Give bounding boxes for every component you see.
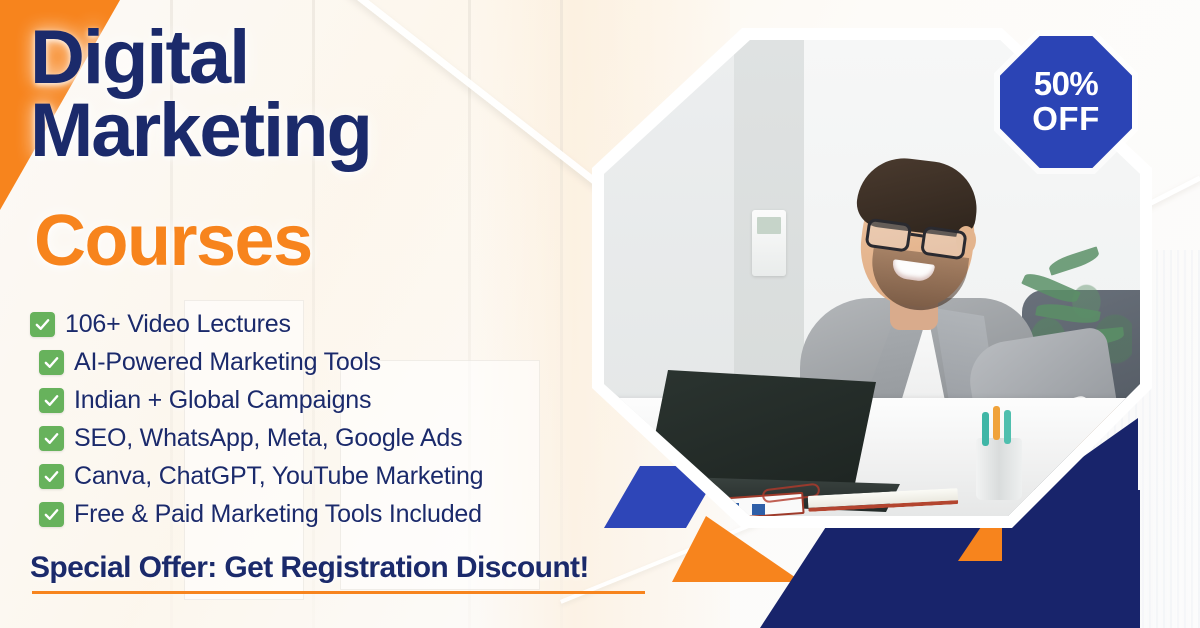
check-icon	[39, 350, 64, 375]
check-icon	[39, 502, 64, 527]
promo-banner: 50% OFF Digital Marketing Courses 106+ V…	[0, 0, 1200, 628]
photo-pen-holder	[976, 438, 1022, 500]
check-icon	[39, 388, 64, 413]
list-item: SEO, WhatsApp, Meta, Google Ads	[30, 419, 630, 457]
list-item: AI-Powered Marketing Tools	[30, 343, 630, 381]
list-item: Indian + Global Campaigns	[30, 381, 630, 419]
photo-pen	[1004, 410, 1011, 444]
headline-line-2: Marketing	[30, 95, 630, 168]
photo-sticky-note	[752, 504, 765, 515]
cta-text[interactable]: Special Offer: Get Registration Discount…	[30, 551, 589, 585]
feature-label: Indian + Global Campaigns	[74, 386, 371, 415]
discount-off-label: OFF	[1032, 100, 1099, 138]
check-icon	[39, 426, 64, 451]
discount-percent: 50%	[1034, 67, 1099, 100]
list-item: Canva, ChatGPT, YouTube Marketing	[30, 457, 630, 495]
feature-list: 106+ Video Lectures AI-Powered Marketing…	[30, 305, 630, 533]
feature-label: AI-Powered Marketing Tools	[74, 348, 381, 377]
feature-label: SEO, WhatsApp, Meta, Google Ads	[74, 424, 462, 453]
content-block: Digital Marketing Courses 106+ Video Lec…	[0, 0, 660, 628]
photo-wall-thermostat	[752, 210, 786, 276]
cta-underline	[32, 591, 645, 594]
check-icon	[39, 464, 64, 489]
feature-label: Free & Paid Marketing Tools Included	[74, 500, 482, 529]
list-item: Free & Paid Marketing Tools Included	[30, 495, 630, 533]
subheadline: Courses	[34, 205, 312, 277]
photo-pen	[982, 412, 989, 446]
photo-pen	[993, 406, 1000, 440]
page-title: Digital Marketing	[30, 22, 630, 168]
check-icon	[30, 312, 55, 337]
feature-label: 106+ Video Lectures	[65, 310, 291, 339]
list-item: 106+ Video Lectures	[30, 305, 630, 343]
feature-label: Canva, ChatGPT, YouTube Marketing	[74, 462, 483, 491]
